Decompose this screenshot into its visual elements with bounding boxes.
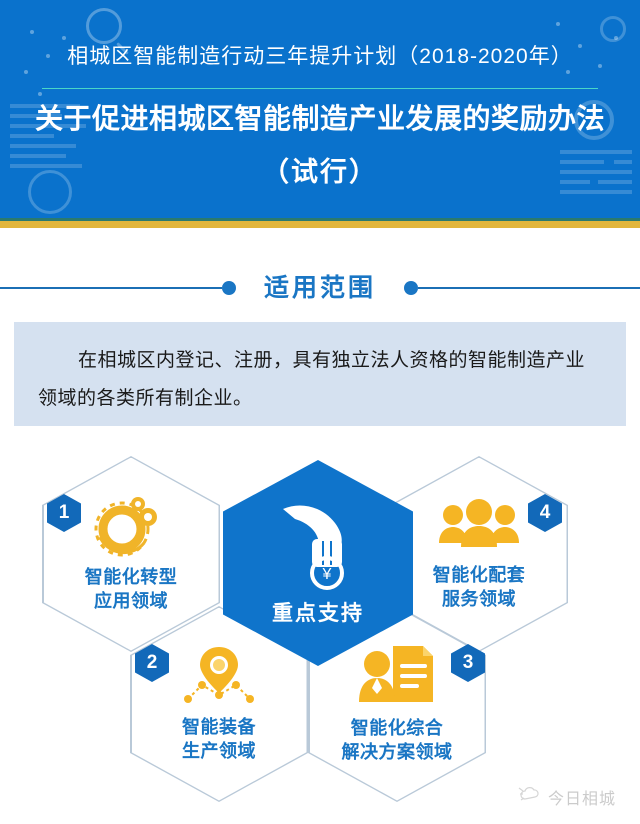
watermark-text: 今日相城 (548, 785, 616, 809)
decor-dot (30, 30, 34, 34)
magnifier-icon (86, 8, 122, 44)
section-heading-scope: 适用范围 (0, 268, 640, 308)
watermark: 今日相城 (517, 784, 616, 809)
decor-dot (556, 22, 560, 26)
header-divider-rule (42, 88, 598, 89)
heading-rule-right (418, 287, 640, 289)
gears-icon (92, 495, 170, 562)
header-main-title-line2: （试行） (0, 150, 640, 189)
header-subtitle: 相城区智能制造行动三年提升计划（2018-2020年） (0, 44, 640, 69)
svg-text:¥: ¥ (322, 566, 332, 583)
hex-cell-4-label: 智能化配套 服务领域 (433, 564, 526, 612)
hex-cell-2-label: 智能装备 生产领域 (182, 716, 256, 764)
decor-dot (614, 36, 618, 40)
decor-dot (24, 70, 28, 74)
hand-holding-coin-icon: ¥ (275, 499, 361, 596)
decor-dot (62, 36, 66, 40)
hex-cell-center-content: ¥ 重点支持 (223, 460, 413, 666)
decor-circle-small-right (600, 16, 626, 42)
footer: 今日相城 (0, 770, 640, 824)
decor-dot (38, 92, 42, 96)
honeycomb-diagram: 智能化转型 应用领域 1 智能化配套 服务领域 4 (0, 446, 640, 776)
scope-body-text: 在相城区内登记、注册，具有独立法人资格的智能制造产业领域的各类所有制企业。 (38, 342, 600, 418)
scope-text-box: 在相城区内登记、注册，具有独立法人资格的智能制造产业领域的各类所有制企业。 (14, 322, 626, 426)
decor-line (10, 144, 76, 148)
gold-divider-band (0, 221, 640, 228)
hex-cell-center-label: 重点支持 (272, 600, 364, 628)
three-people-icon (437, 497, 521, 560)
heading-dot-right-icon (404, 281, 418, 295)
decor-dot (566, 70, 570, 74)
decor-line (560, 190, 632, 194)
hex-cell-3-label: 智能化综合 解决方案领域 (342, 717, 453, 765)
cloud-logo-icon (517, 784, 541, 809)
header-banner: 相城区智能制造行动三年提升计划（2018-2020年） 关于促进相城区智能制造产… (0, 0, 640, 218)
header-main-title: 关于促进相城区智能制造产业发展的奖励办法 (0, 101, 640, 136)
